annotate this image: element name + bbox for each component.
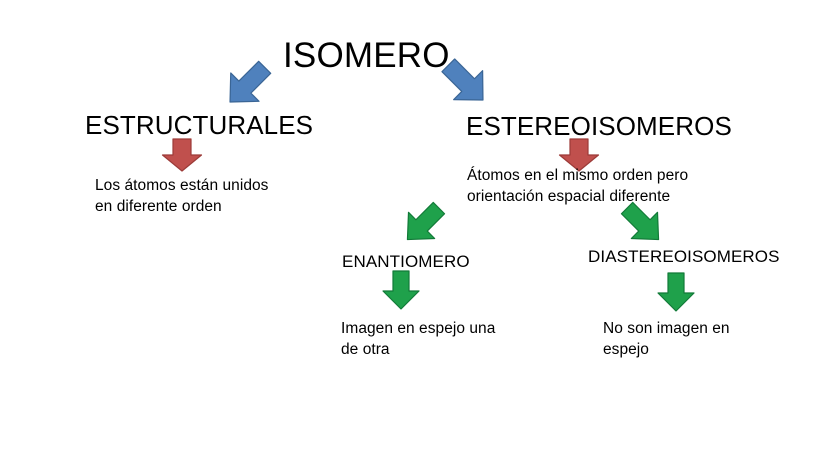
diagram-canvas: ISOMERO ESTRUCTURALES Los átomos están u… xyxy=(0,0,828,466)
node-isomero-title: ISOMERO xyxy=(283,34,450,78)
arrow-estereoisomeros-to-diastereoisomeros xyxy=(617,200,669,248)
node-diastereoisomeros-description-line1: No son imagen en xyxy=(603,318,730,340)
node-diastereoisomeros-heading: DIASTEREOISOMEROS xyxy=(588,246,780,267)
arrow-estructurales-to-definition xyxy=(160,138,204,172)
arrow-isomero-to-estructurales xyxy=(219,59,275,111)
arrow-estereoisomeros-to-enantiomero xyxy=(397,200,449,248)
node-enantiomero-description-line2: de otra xyxy=(341,339,390,361)
node-estereoisomeros-description-line1: Átomos en el mismo orden pero xyxy=(467,165,688,187)
arrow-isomero-to-estereoisomeros xyxy=(437,56,495,110)
node-estructurales-heading: ESTRUCTURALES xyxy=(85,109,313,142)
node-diastereoisomeros-description-line2: espejo xyxy=(603,339,649,361)
node-enantiomero-description-line1: Imagen en espejo una xyxy=(341,318,495,340)
arrow-enantiomero-to-definition xyxy=(380,270,422,310)
arrow-diastereoisomeros-to-definition xyxy=(655,272,697,312)
node-estructurales-description-line1: Los átomos están unidos xyxy=(95,175,268,197)
node-estructurales-description-line2: en diferente orden xyxy=(95,196,222,218)
